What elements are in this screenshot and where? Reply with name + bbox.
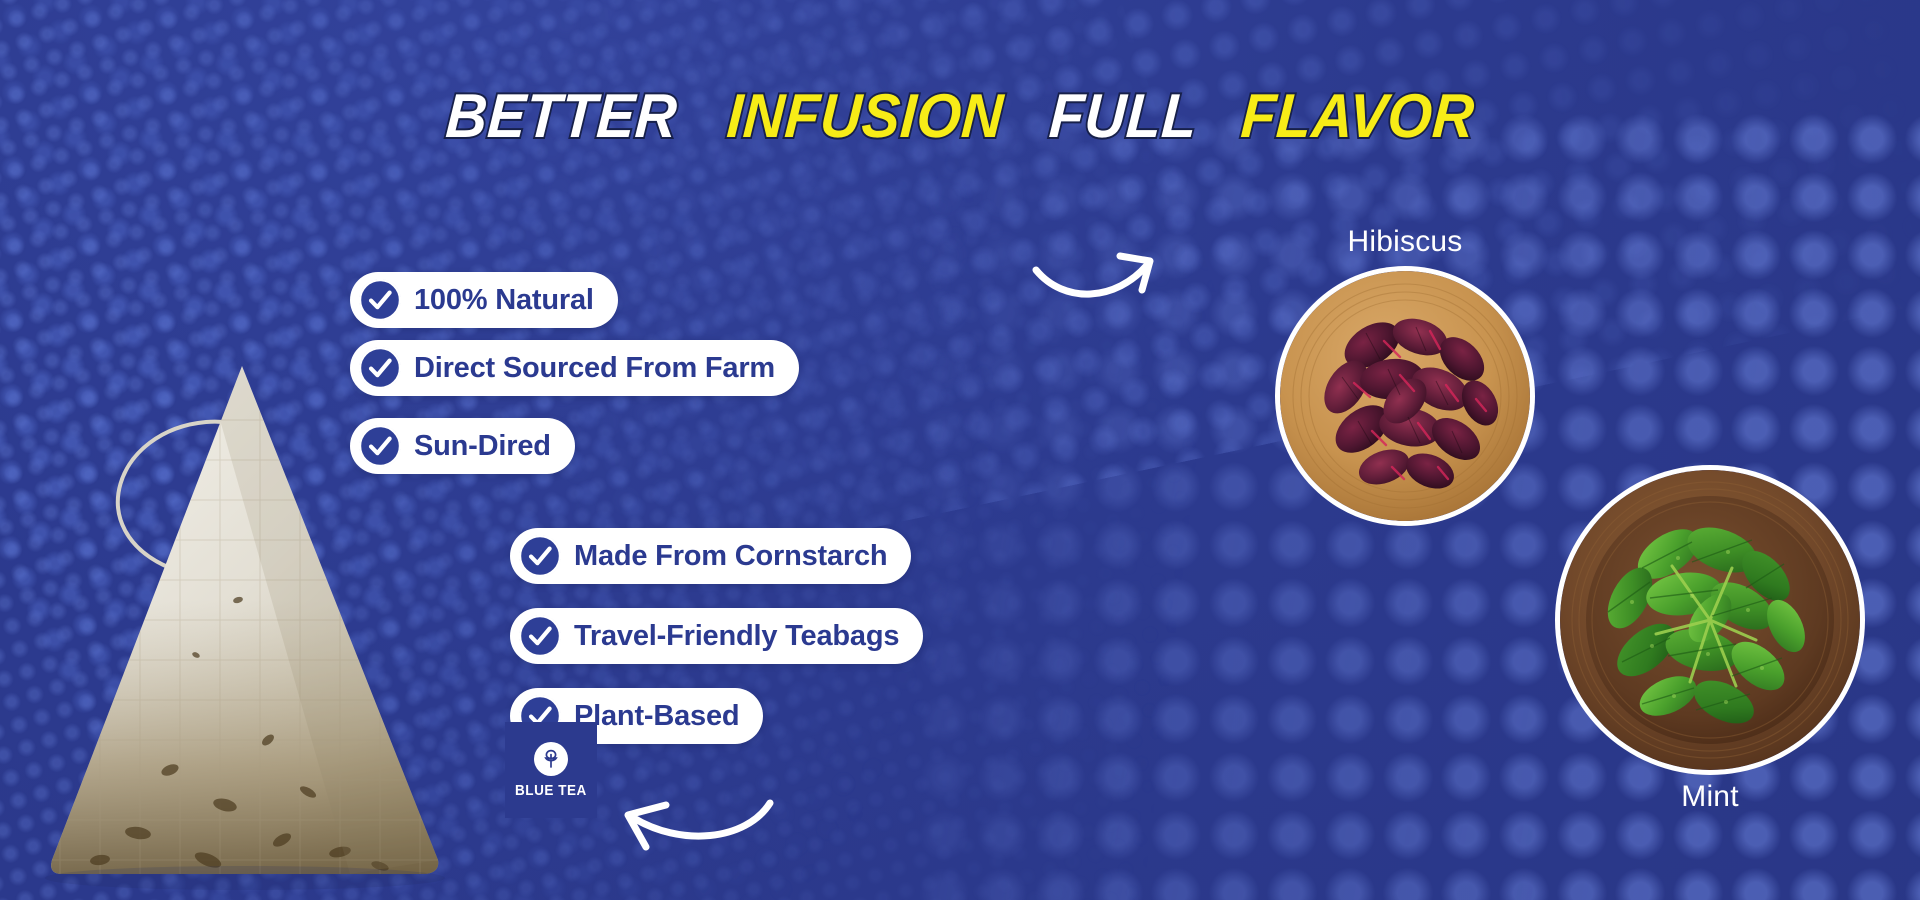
ingredient-caption-hibiscus: Hibiscus bbox=[1255, 225, 1555, 259]
banner-canvas: BETTER INFUSION FULL FLAVOR 100% Natural… bbox=[0, 0, 1920, 900]
mint-photo bbox=[1560, 470, 1860, 770]
ingredient-hibiscus: Hibiscus bbox=[1255, 225, 1555, 521]
arrow-to-teabag-tag-icon bbox=[610, 785, 780, 880]
hibiscus-photo bbox=[1280, 271, 1530, 521]
feature-pill-label: Made From Cornstarch bbox=[574, 540, 887, 573]
ingredient-caption-mint: Mint bbox=[1545, 780, 1875, 814]
feature-pill-cornstarch[interactable]: Made From Cornstarch bbox=[510, 528, 911, 584]
blue-tea-brand-tag: BLUE TEA bbox=[505, 722, 597, 818]
headline-word-2: INFUSION bbox=[720, 86, 1009, 148]
flower-leaf-icon bbox=[534, 742, 568, 776]
page-title: BETTER INFUSION FULL FLAVOR bbox=[0, 86, 1920, 148]
ingredient-mint: Mint bbox=[1545, 470, 1875, 770]
headline-word-3: FULL bbox=[1042, 86, 1203, 148]
feature-pill-travel-friendly[interactable]: Travel-Friendly Teabags bbox=[510, 608, 923, 664]
check-circle-icon bbox=[519, 535, 561, 577]
check-circle-icon bbox=[519, 615, 561, 657]
blue-tea-brand-label: BLUE TEA bbox=[515, 782, 587, 799]
arrow-to-hibiscus-icon bbox=[1030, 240, 1170, 315]
headline-word-4: FLAVOR bbox=[1234, 86, 1480, 148]
headline-word-1: BETTER bbox=[439, 86, 683, 148]
pyramid-teabag-image bbox=[20, 300, 490, 900]
feature-pill-label: Travel-Friendly Teabags bbox=[574, 620, 899, 653]
feature-pill-label: Plant-Based bbox=[574, 700, 739, 733]
